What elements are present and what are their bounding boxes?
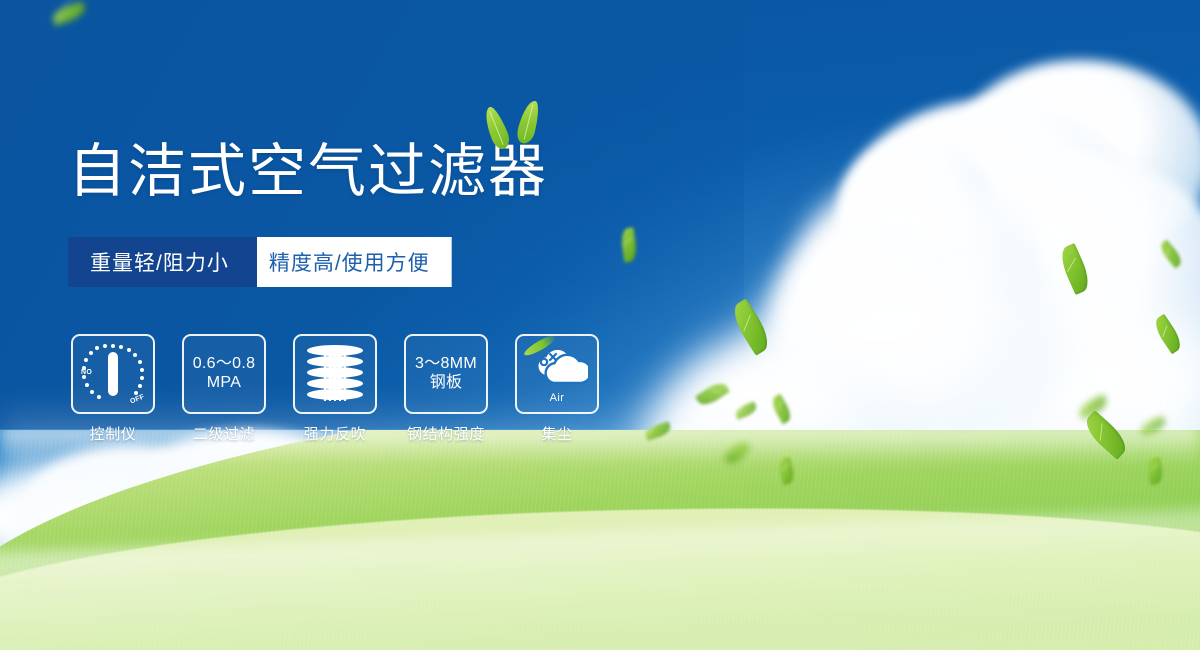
steel-plate-text-icon: 3～8MM 钢板: [415, 355, 477, 393]
filter-stack-icon: [307, 345, 363, 403]
subtitle-left-chip: 重量轻/阻力小: [68, 237, 257, 287]
leaf-icon: [515, 99, 542, 146]
subtitle-right-chip: 精度高/使用方便: [239, 237, 452, 287]
page-title: 自洁式空气过滤器: [68, 140, 708, 205]
feature-icon-box: 0.6～0.8 MPA: [182, 334, 266, 414]
pressure-text-icon: 0.6～0.8 MPA: [193, 355, 256, 393]
feature-label: 集尘: [541, 423, 572, 444]
feature-item-dust[interactable]: Air 集尘: [516, 334, 598, 444]
grass-field: [0, 430, 1200, 650]
subtitle-bar: 重量轻/阻力小 精度高/使用方便: [68, 237, 452, 287]
pressure-range: 0.6～0.8: [193, 355, 256, 374]
title-block: 自洁式空气过滤器: [68, 140, 708, 205]
feature-icon-box: 3～8MM 钢板: [404, 334, 488, 414]
feature-icon-box: NO OFF: [71, 334, 155, 414]
gauge-needle: [108, 352, 118, 396]
feature-item-blowback[interactable]: 强力反吹: [294, 334, 376, 444]
pressure-unit: MPA: [193, 374, 256, 393]
feature-icon-box: Air: [515, 334, 599, 414]
feature-label: 钢结构强度: [407, 423, 485, 444]
feature-item-filtration[interactable]: 0.6～0.8 MPA 二级过滤: [183, 334, 265, 444]
steel-material: 钢板: [415, 374, 477, 393]
feature-label: 二级过滤: [193, 423, 255, 444]
air-text: Air: [526, 392, 588, 404]
feature-label: 控制仪: [90, 423, 137, 444]
gauge-off-label: OFF: [129, 393, 145, 405]
product-hero-banner: 自洁式空气过滤器 重量轻/阻力小 精度高/使用方便 NO OFF: [0, 0, 1200, 650]
feature-icon-box: [293, 334, 377, 414]
sprout-leaves: [480, 98, 560, 154]
leaf-icon: [480, 104, 512, 151]
feature-list: NO OFF: [72, 334, 598, 444]
steel-thickness: 3～8MM: [415, 355, 477, 374]
gauge-dial-icon: NO OFF: [81, 343, 145, 405]
feature-item-control[interactable]: NO OFF: [72, 334, 154, 444]
air-cloud-icon: Air: [526, 345, 588, 403]
feature-label: 强力反吹: [304, 423, 366, 444]
feature-item-steel[interactable]: 3～8MM 钢板 钢结构强度: [405, 334, 487, 444]
